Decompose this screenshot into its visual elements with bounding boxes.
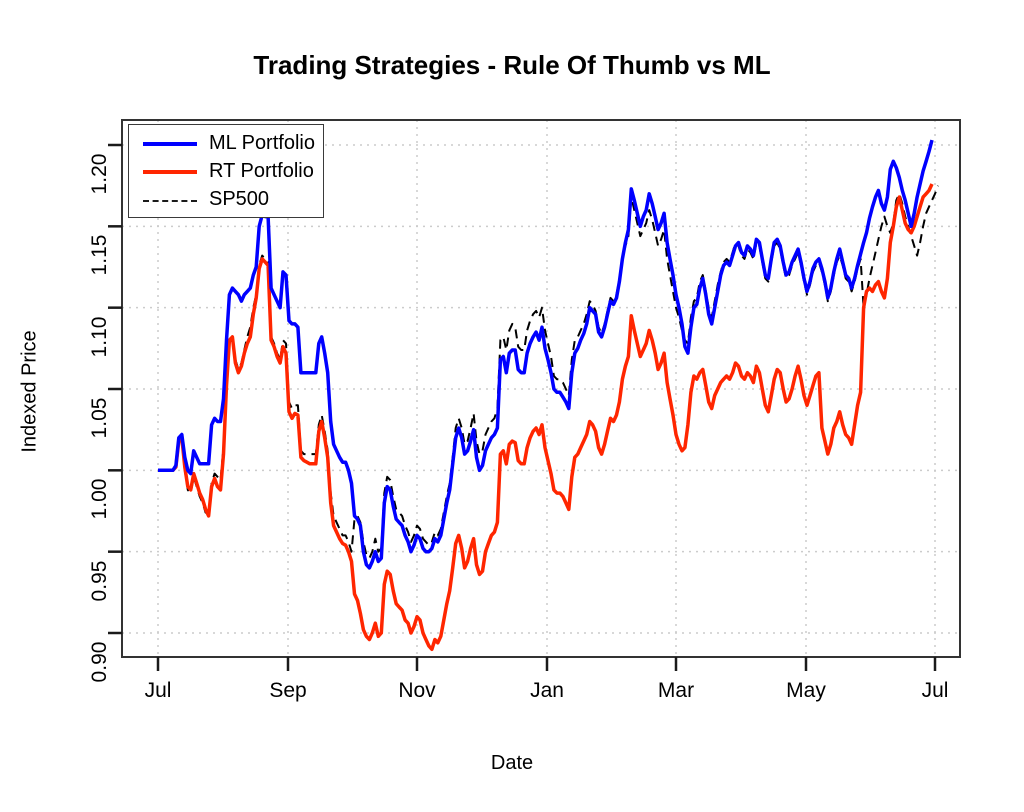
legend-swatch-solid	[143, 170, 197, 174]
series-line-rt-portfolio	[158, 184, 932, 649]
y-tick-label: 0.90	[88, 632, 112, 692]
chart-page: Trading Strategies - Rule Of Thumb vs ML…	[0, 0, 1024, 812]
legend-item: RT Portfolio	[129, 159, 323, 185]
y-tick-label: 1.20	[88, 144, 112, 204]
series-line-sp500	[158, 186, 938, 559]
axis-ticks	[108, 145, 935, 671]
x-tick-label: Sep	[269, 679, 306, 703]
y-tick-label: 1.00	[88, 469, 112, 529]
legend: ML PortfolioRT PortfolioSP500	[128, 124, 324, 218]
legend-item: SP500	[129, 187, 323, 213]
legend-label: ML Portfolio	[209, 132, 315, 155]
legend-swatch-solid	[143, 142, 197, 146]
x-tick-label: Jul	[922, 679, 949, 703]
legend-swatch-dashed	[143, 200, 197, 202]
legend-label: RT Portfolio	[209, 160, 314, 183]
x-tick-label: Mar	[658, 679, 694, 703]
x-tick-label: Jan	[530, 679, 564, 703]
legend-label: SP500	[209, 188, 269, 211]
x-tick-label: May	[786, 679, 826, 703]
y-tick-label: 0.95	[88, 551, 112, 611]
y-axis-label: Indexed Price	[19, 262, 42, 522]
x-axis-label: Date	[0, 752, 1024, 775]
x-tick-label: Nov	[398, 679, 435, 703]
x-tick-label: Jul	[145, 679, 172, 703]
y-tick-label: 1.10	[88, 307, 112, 367]
y-tick-label: 1.15	[88, 225, 112, 285]
legend-item: ML Portfolio	[129, 131, 323, 157]
y-tick-label: 1.05	[88, 388, 112, 448]
